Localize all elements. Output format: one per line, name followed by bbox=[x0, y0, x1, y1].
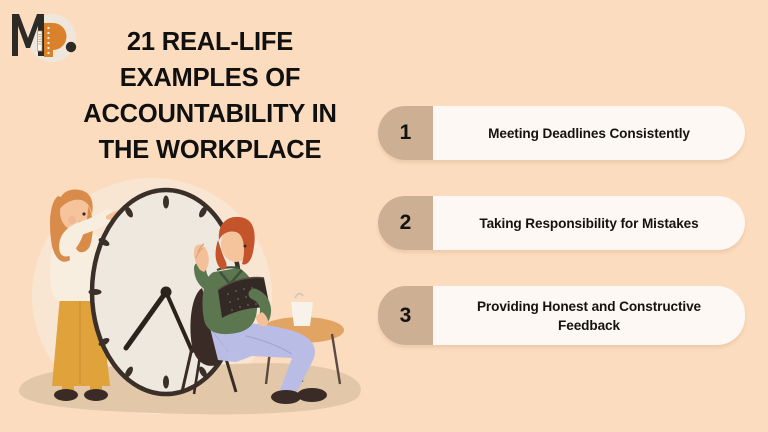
list-item-number-badge: 3 bbox=[378, 286, 433, 345]
list-item-number-badge: 1 bbox=[378, 106, 433, 160]
page-title-line-4: THE WORKPLACE bbox=[62, 132, 358, 168]
page-title: 21 REAL-LIFE EXAMPLES OF ACCOUNTABILITY … bbox=[62, 24, 358, 168]
list-item-label: Taking Responsibility for Mistakes bbox=[433, 196, 745, 250]
list-item-label: Providing Honest and Constructive Feedba… bbox=[433, 286, 745, 345]
list-item-number-badge: 2 bbox=[378, 196, 433, 250]
slide-canvas: 21 REAL-LIFE EXAMPLES OF ACCOUNTABILITY … bbox=[0, 0, 768, 432]
page-title-line-2: EXAMPLES OF bbox=[62, 60, 358, 96]
women-with-giant-clock-illustration bbox=[14, 176, 374, 432]
illustration-svg bbox=[14, 176, 374, 432]
list-item[interactable]: 2 Taking Responsibility for Mistakes bbox=[378, 196, 745, 250]
numbered-examples-list: 1 Meeting Deadlines Consistently 2 Takin… bbox=[378, 0, 750, 432]
list-item[interactable]: 3 Providing Honest and Constructive Feed… bbox=[378, 286, 745, 345]
page-title-line-1: 21 REAL-LIFE bbox=[62, 24, 358, 60]
page-title-line-3: ACCOUNTABILITY IN bbox=[62, 96, 358, 132]
list-item-label: Meeting Deadlines Consistently bbox=[433, 106, 745, 160]
coffee-cup bbox=[291, 293, 313, 326]
list-item[interactable]: 1 Meeting Deadlines Consistently bbox=[378, 106, 745, 160]
